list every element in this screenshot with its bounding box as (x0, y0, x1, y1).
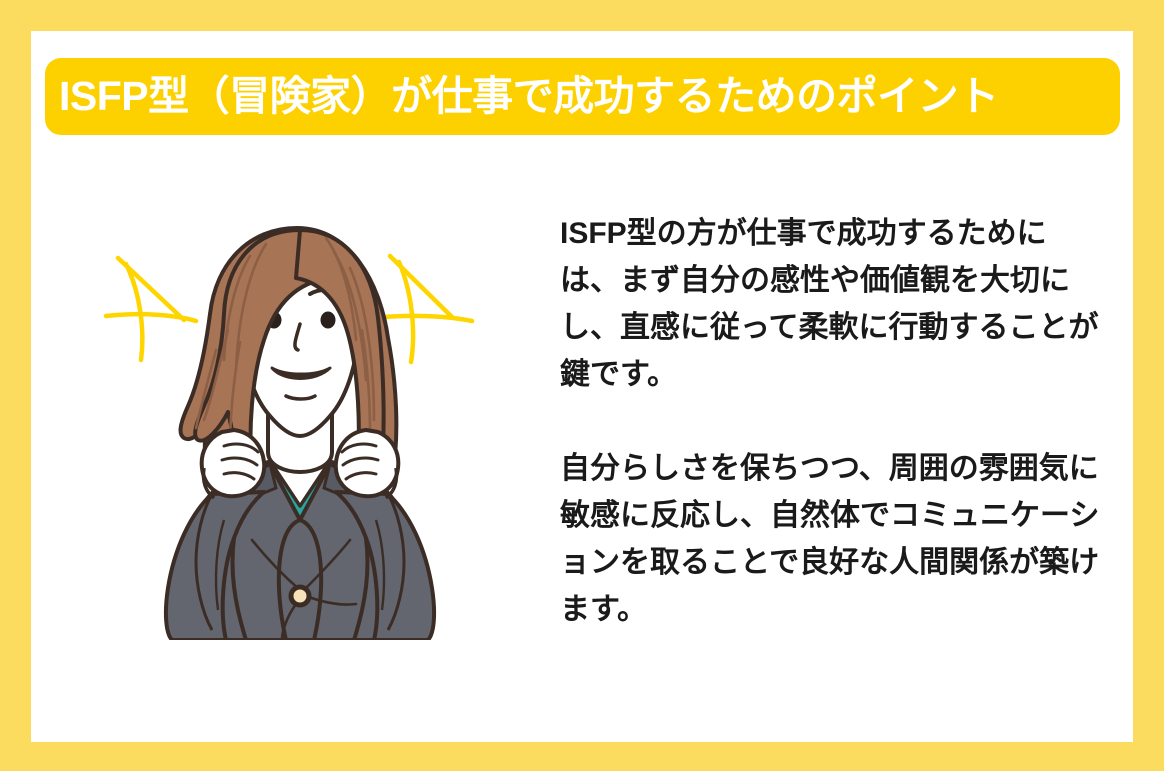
sparkle-mark-left (106, 258, 196, 360)
poster-root: ISFP型（冒険家）が仕事で成功するためのポイント (0, 0, 1164, 771)
illustration-woman-in-suit (100, 220, 500, 640)
eye-right (321, 312, 336, 329)
body-paragraph-1: ISFP型の方が仕事で成功するためには、まず自分の感性や価値観を大切にし、直感に… (560, 210, 1100, 398)
illustration-svg (100, 220, 500, 640)
white-card: ISFP型（冒険家）が仕事で成功するためのポイント (31, 31, 1133, 742)
page-title: ISFP型（冒険家）が仕事で成功するためのポイント (59, 76, 999, 117)
title-banner: ISFP型（冒険家）が仕事で成功するためのポイント (45, 58, 1120, 135)
body-paragraph-2: 自分らしさを保ちつつ、周囲の雰囲気に敏感に反応し、自然体でコミュニケーションを取… (560, 445, 1100, 633)
jacket-button (291, 587, 309, 605)
body-copy-block: ISFP型の方が仕事で成功するためには、まず自分の感性や価値観を大切にし、直感に… (560, 210, 1100, 633)
